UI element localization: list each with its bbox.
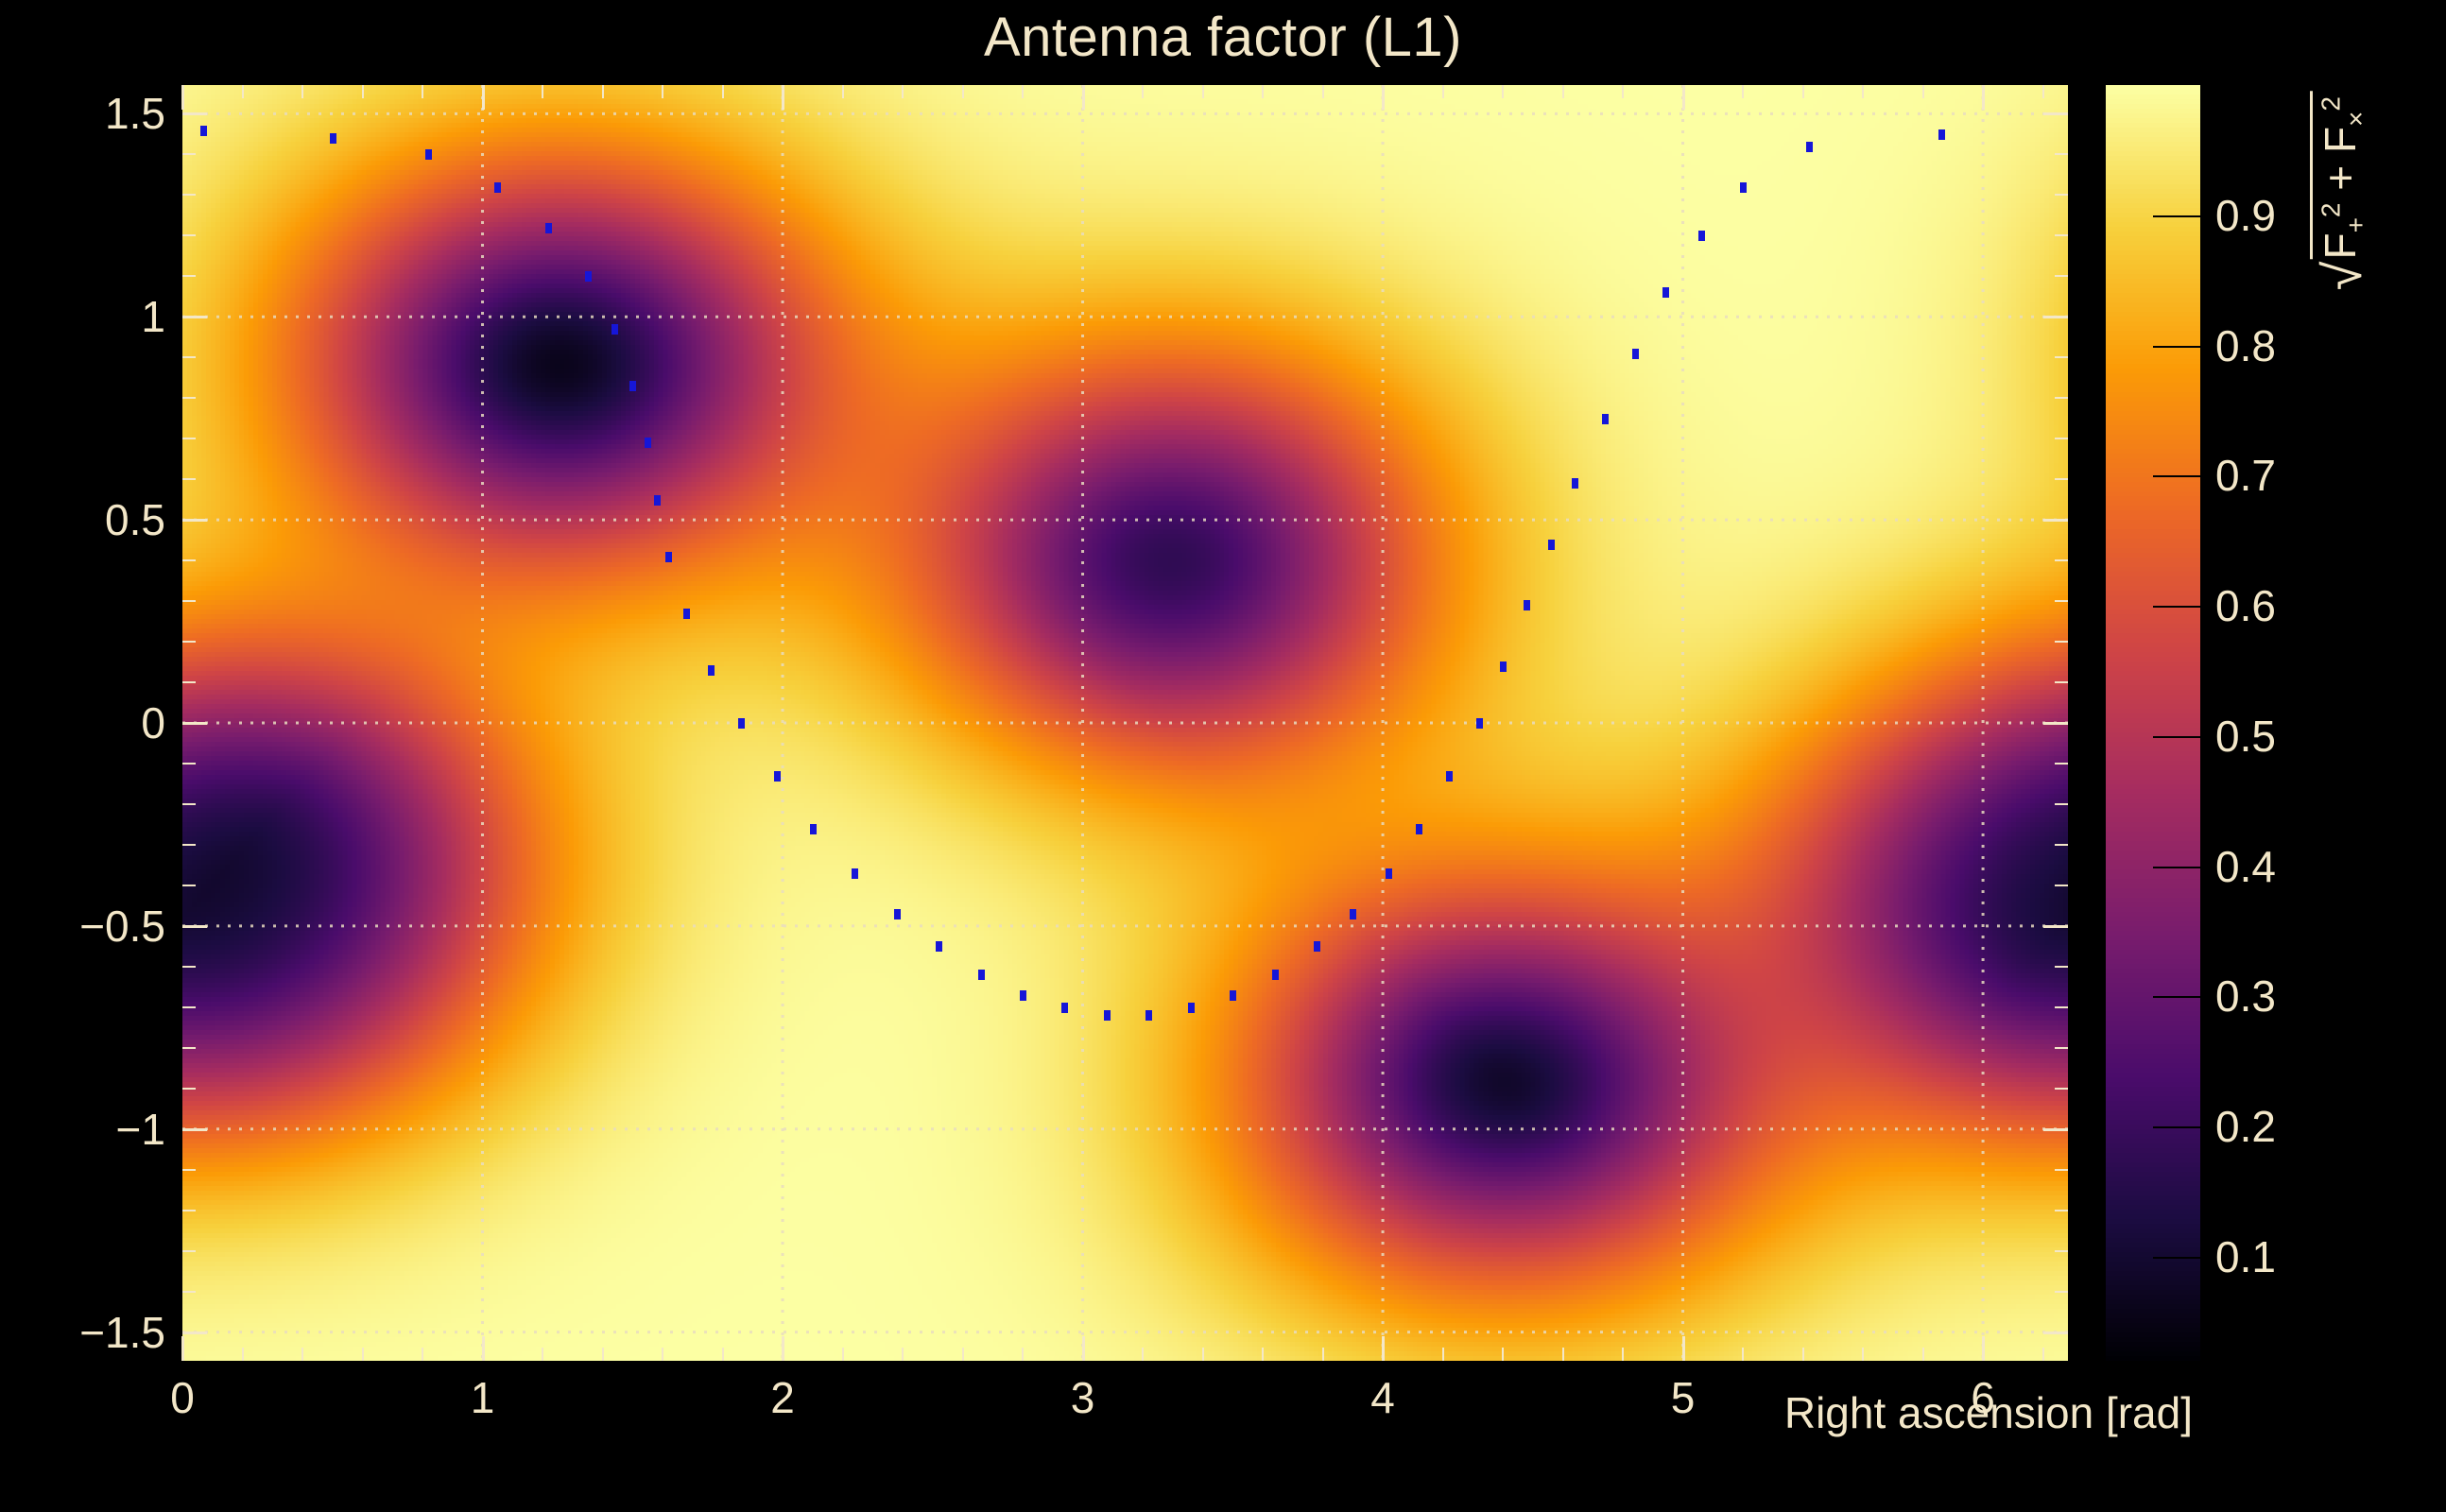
x-axis-minor-tick <box>362 1348 364 1361</box>
f-cross-term: F×2 <box>2316 96 2365 153</box>
x-axis-minor-tick-top <box>2042 85 2044 98</box>
y-axis-tick-right <box>2043 316 2068 318</box>
y-axis-tick-right <box>2043 722 2068 725</box>
y-axis-minor-tick <box>182 1291 196 1293</box>
x-axis-minor-tick <box>1562 1348 1564 1361</box>
y-axis-minor-tick-right <box>2055 966 2068 968</box>
colorbar-tick-label: 0.9 <box>2215 190 2276 241</box>
colorbar-tick-label: 0.3 <box>2215 971 2276 1022</box>
y-axis-minor-tick <box>182 641 196 643</box>
y-axis-minor-tick-right <box>2055 194 2068 196</box>
y-axis-tick <box>182 722 207 725</box>
x-axis-minor-tick <box>662 1348 663 1361</box>
y-axis-minor-tick-right <box>2055 600 2068 602</box>
x-axis-minor-tick-top <box>1202 85 1204 98</box>
x-axis-minor-tick <box>1922 1348 1924 1361</box>
y-axis-minor-tick-right <box>2055 1169 2068 1171</box>
x-axis-minor-tick <box>242 1348 244 1361</box>
y-axis-tick <box>182 1128 207 1131</box>
y-axis-minor-tick <box>182 966 196 968</box>
x-axis-minor-tick <box>1142 1348 1144 1361</box>
y-axis-minor-tick-right <box>2055 153 2068 155</box>
x-axis-tick-top <box>1382 85 1385 110</box>
x-axis-minor-tick <box>1442 1348 1444 1361</box>
y-axis-tick-label: 0 <box>0 697 165 748</box>
y-axis-tick-right <box>2043 1332 2068 1334</box>
x-axis-minor-tick-top <box>842 85 844 98</box>
y-axis-minor-tick <box>182 681 196 683</box>
y-axis-minor-tick <box>182 153 196 155</box>
x-axis-minor-tick <box>1322 1348 1324 1361</box>
x-axis-tick-top <box>1682 85 1685 110</box>
x-axis-tick-top <box>181 85 184 110</box>
colorbar-tick <box>2153 475 2200 477</box>
x-axis-minor-tick <box>1022 1348 1024 1361</box>
x-axis-minor-tick <box>2042 1348 2044 1361</box>
x-axis-minor-tick-top <box>1322 85 1324 98</box>
y-axis-minor-tick <box>182 438 196 439</box>
y-axis-minor-tick <box>182 1006 196 1008</box>
x-axis-tick <box>482 1336 485 1361</box>
x-axis-tick <box>1682 1336 1685 1361</box>
x-axis-minor-tick-top <box>902 85 904 98</box>
colorbar-title: √F+2 + F×2 <box>2310 91 2371 290</box>
x-axis-minor-tick <box>1502 1348 1504 1361</box>
x-axis-minor-tick <box>842 1348 844 1361</box>
y-axis-minor-tick-right <box>2055 885 2068 886</box>
y-axis-minor-tick <box>182 194 196 196</box>
x-axis-tick <box>782 1336 784 1361</box>
x-axis-minor-tick <box>542 1348 543 1361</box>
colorbar-tick <box>2153 606 2200 608</box>
x-axis-tick <box>1382 1336 1385 1361</box>
y-axis-minor-tick <box>182 803 196 805</box>
colorbar-tick <box>2153 996 2200 998</box>
colorbar-tick-label: 0.5 <box>2215 711 2276 762</box>
x-axis-minor-tick-top <box>962 85 964 98</box>
y-axis-tick-right <box>2043 1128 2068 1131</box>
x-axis-minor-tick-top <box>1442 85 1444 98</box>
y-axis-minor-tick-right <box>2055 763 2068 765</box>
x-axis-minor-tick-top <box>1142 85 1144 98</box>
x-axis-minor-tick <box>902 1348 904 1361</box>
colorbar-tick-label: 0.6 <box>2215 580 2276 631</box>
y-axis-tick <box>182 112 207 115</box>
y-axis-minor-tick-right <box>2055 1291 2068 1293</box>
x-axis-minor-tick <box>1622 1348 1624 1361</box>
y-axis-minor-tick <box>182 1047 196 1049</box>
x-axis-minor-tick <box>1262 1348 1264 1361</box>
colorbar-tick-label: 0.1 <box>2215 1231 2276 1282</box>
y-axis-minor-tick-right <box>2055 1006 2068 1008</box>
y-axis-minor-tick <box>182 1169 196 1171</box>
x-axis-minor-tick-top <box>1022 85 1024 98</box>
x-axis-title: Right ascension [rad] <box>0 1387 2446 1438</box>
y-axis-minor-tick <box>182 559 196 561</box>
y-axis-tick-label: 1 <box>0 291 165 342</box>
colorbar-tick <box>2153 736 2200 738</box>
y-axis-minor-tick <box>182 356 196 358</box>
x-axis-minor-tick-top <box>722 85 724 98</box>
x-axis-minor-tick <box>1802 1348 1804 1361</box>
page-title: Antenna factor (L1) <box>0 6 2446 69</box>
x-axis-minor-tick <box>962 1348 964 1361</box>
colorbar-tick <box>2153 1257 2200 1259</box>
y-axis-minor-tick <box>182 397 196 399</box>
x-axis-tick <box>1082 1336 1085 1361</box>
y-axis-tick-label: −0.5 <box>0 901 165 952</box>
y-axis-minor-tick <box>182 1250 196 1252</box>
x-axis-minor-tick-top <box>1502 85 1504 98</box>
y-axis-minor-tick <box>182 275 196 277</box>
x-axis-tick-top <box>482 85 485 110</box>
x-axis-minor-tick-top <box>1262 85 1264 98</box>
x-axis-minor-tick-top <box>1922 85 1924 98</box>
y-axis-minor-tick-right <box>2055 1047 2068 1049</box>
x-axis-minor-tick-top <box>422 85 423 98</box>
y-axis-tick-label: 1.5 <box>0 88 165 139</box>
x-axis-minor-tick <box>301 1348 303 1361</box>
y-axis-tick <box>182 316 207 318</box>
y-axis-minor-tick-right <box>2055 478 2068 480</box>
x-axis-minor-tick <box>602 1348 604 1361</box>
colorbar-tick <box>2153 1126 2200 1128</box>
y-axis-minor-tick-right <box>2055 438 2068 439</box>
x-axis-minor-tick-top <box>1562 85 1564 98</box>
x-axis-minor-tick-top <box>1742 85 1744 98</box>
y-axis-minor-tick-right <box>2055 844 2068 846</box>
x-axis-minor-tick-top <box>602 85 604 98</box>
colorbar[interactable] <box>2106 85 2200 1361</box>
y-axis-tick-right <box>2043 112 2068 115</box>
y-axis-tick <box>182 1332 207 1334</box>
x-axis-minor-tick <box>722 1348 724 1361</box>
heatmap-plot-area[interactable] <box>182 85 2068 1361</box>
y-axis-tick <box>182 925 207 928</box>
y-axis-minor-tick-right <box>2055 397 2068 399</box>
y-axis-minor-tick <box>182 234 196 236</box>
y-axis-minor-tick-right <box>2055 275 2068 277</box>
f-plus-term: F+2 <box>2316 202 2365 259</box>
y-axis-minor-tick <box>182 885 196 886</box>
y-axis-minor-tick-right <box>2055 641 2068 643</box>
x-axis-tick-top <box>1982 85 1985 110</box>
x-axis-minor-tick-top <box>1802 85 1804 98</box>
y-axis-minor-tick <box>182 844 196 846</box>
radical-icon: √ <box>2322 262 2365 291</box>
y-axis-minor-tick-right <box>2055 356 2068 358</box>
y-axis-minor-tick-right <box>2055 803 2068 805</box>
y-axis-tick-label: −1.5 <box>0 1307 165 1358</box>
x-axis-minor-tick <box>1202 1348 1204 1361</box>
x-axis-minor-tick <box>422 1348 423 1361</box>
x-axis-tick-top <box>782 85 784 110</box>
y-axis-tick-right <box>2043 925 2068 928</box>
x-axis-tick-top <box>1082 85 1085 110</box>
y-axis-minor-tick-right <box>2055 234 2068 236</box>
x-axis-minor-tick <box>1742 1348 1744 1361</box>
colorbar-tick-label: 0.8 <box>2215 320 2276 371</box>
x-axis-minor-tick-top <box>301 85 303 98</box>
y-axis-tick-label: 0.5 <box>0 494 165 545</box>
colorbar-tick <box>2153 215 2200 217</box>
x-axis-minor-tick <box>1862 1348 1864 1361</box>
y-axis-minor-tick-right <box>2055 681 2068 683</box>
y-axis-tick <box>182 519 207 522</box>
colorbar-tick-label: 0.4 <box>2215 841 2276 892</box>
plus-operator: + <box>2316 165 2365 191</box>
y-axis-minor-tick-right <box>2055 1210 2068 1211</box>
x-axis-tick <box>181 1336 184 1361</box>
colorbar-tick-label: 0.7 <box>2215 450 2276 501</box>
y-axis-minor-tick <box>182 600 196 602</box>
y-axis-tick-label: −1 <box>0 1104 165 1155</box>
y-axis-minor-tick-right <box>2055 1088 2068 1090</box>
x-axis-minor-tick-top <box>1862 85 1864 98</box>
y-axis-minor-tick <box>182 1210 196 1211</box>
heatmap-image <box>182 85 2068 1361</box>
x-axis-minor-tick-top <box>242 85 244 98</box>
colorbar-tick <box>2153 346 2200 348</box>
y-axis-minor-tick <box>182 1088 196 1090</box>
y-axis-tick-right <box>2043 519 2068 522</box>
x-axis-minor-tick-top <box>1622 85 1624 98</box>
y-axis-minor-tick <box>182 763 196 765</box>
x-axis-tick <box>1982 1336 1985 1361</box>
y-axis-minor-tick <box>182 478 196 480</box>
y-axis-minor-tick-right <box>2055 1250 2068 1252</box>
colorbar-tick-label: 0.2 <box>2215 1101 2276 1152</box>
x-axis-minor-tick-top <box>662 85 663 98</box>
x-axis-minor-tick-top <box>362 85 364 98</box>
x-axis-minor-tick-top <box>542 85 543 98</box>
y-axis-minor-tick-right <box>2055 559 2068 561</box>
colorbar-tick <box>2153 867 2200 868</box>
